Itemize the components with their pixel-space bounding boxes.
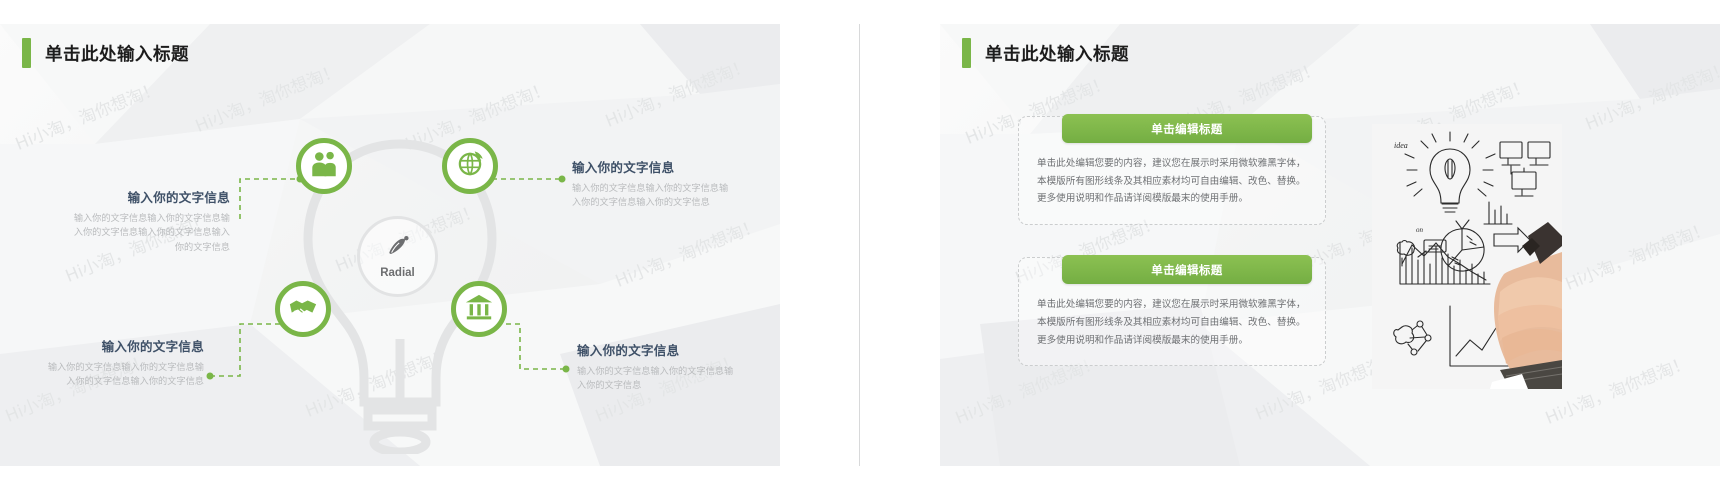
text-block-body: 输入你的文字信息输入你的文字信息输 入你的文字信息输入你的文字信息 — [18, 361, 204, 390]
text-block-heading: 输入你的文字信息 — [25, 187, 230, 206]
presentation-stage: Hi小淘，淘你想淘！ Hi小淘，淘你想淘！ Hi小淘，淘你想淘！ Hi小淘，淘你… — [0, 0, 1720, 490]
bank-icon — [464, 292, 494, 327]
edit-title-button[interactable]: 单击编辑标题 — [1062, 255, 1312, 284]
text-block-body: 输入你的文字信息输入你的文字信息输 入你的文字信息 — [577, 365, 777, 394]
text-block-top-right[interactable]: 输入你的文字信息 输入你的文字信息输入你的文字信息输 入你的文字信息输入你的文字… — [572, 157, 772, 211]
handshake-icon — [288, 292, 318, 327]
text-block-bottom-left[interactable]: 输入你的文字信息 输入你的文字信息输入你的文字信息输 入你的文字信息输入你的文字… — [18, 336, 204, 390]
people-icon — [309, 149, 339, 184]
center-node[interactable]: Radial — [357, 216, 438, 297]
slide-gap — [780, 0, 940, 490]
text-block-bottom-right[interactable]: 输入你的文字信息 输入你的文字信息输入你的文字信息输 入你的文字信息 — [577, 340, 777, 394]
business-sketch-photo: idea — [1372, 124, 1562, 389]
card-body-text: 单击此处编辑您要的内容，建议您在展示时采用微软雅黑字体，本模版所有图形线条及其相… — [1037, 296, 1307, 349]
globe-arrow-icon — [455, 149, 485, 184]
center-label: Radial — [380, 267, 415, 279]
edit-title-button-label: 单击编辑标题 — [1151, 262, 1222, 278]
svg-text:idea: idea — [1394, 141, 1408, 150]
slide-divider — [859, 24, 860, 466]
edit-title-button[interactable]: 单击编辑标题 — [1062, 114, 1312, 143]
text-block-body: 输入你的文字信息输入你的文字信息输 入你的文字信息输入你的文字信息输入 你的文字… — [25, 212, 230, 255]
text-block-heading: 输入你的文字信息 — [572, 157, 772, 176]
node-bank[interactable] — [451, 281, 507, 337]
node-people[interactable] — [296, 138, 352, 194]
node-globe[interactable] — [442, 138, 498, 194]
slide-right[interactable]: Hi小淘，淘你想淘！ Hi小淘，淘你想淘！ Hi小淘，淘你想淘！ Hi小淘，淘你… — [940, 24, 1720, 466]
content-cards: 单击编辑标题 单击此处编辑您要的内容，建议您在展示时采用微软雅黑字体，本模版所有… — [1002, 116, 1342, 398]
bell-icon — [384, 234, 411, 266]
svg-text:on: on — [1416, 226, 1424, 234]
title-accent-bar — [962, 38, 971, 68]
content-card[interactable]: 单击编辑标题 单击此处编辑您要的内容，建议您在展示时采用微软雅黑字体，本模版所有… — [1002, 257, 1342, 366]
text-block-top-left[interactable]: 输入你的文字信息 输入你的文字信息输入你的文字信息输 入你的文字信息输入你的文字… — [25, 187, 230, 255]
text-block-heading: 输入你的文字信息 — [577, 340, 777, 359]
content-card[interactable]: 单击编辑标题 单击此处编辑您要的内容，建议您在展示时采用微软雅黑字体，本模版所有… — [1002, 116, 1342, 225]
title-accent-bar — [22, 38, 31, 68]
page-title: 单击此处输入标题 — [985, 41, 1129, 66]
card-body-text: 单击此处编辑您要的内容，建议您在展示时采用微软雅黑字体，本模版所有图形线条及其相… — [1037, 155, 1307, 208]
slide-title-right[interactable]: 单击此处输入标题 — [962, 38, 1129, 68]
text-block-heading: 输入你的文字信息 — [18, 336, 204, 355]
page-title: 单击此处输入标题 — [45, 41, 189, 66]
node-handshake[interactable] — [275, 281, 331, 337]
slide-left[interactable]: Hi小淘，淘你想淘！ Hi小淘，淘你想淘！ Hi小淘，淘你想淘！ Hi小淘，淘你… — [0, 24, 780, 466]
edit-title-button-label: 单击编辑标题 — [1151, 121, 1222, 137]
slide-title-left[interactable]: 单击此处输入标题 — [22, 38, 189, 68]
text-block-body: 输入你的文字信息输入你的文字信息输 入你的文字信息输入你的文字信息 — [572, 182, 772, 211]
